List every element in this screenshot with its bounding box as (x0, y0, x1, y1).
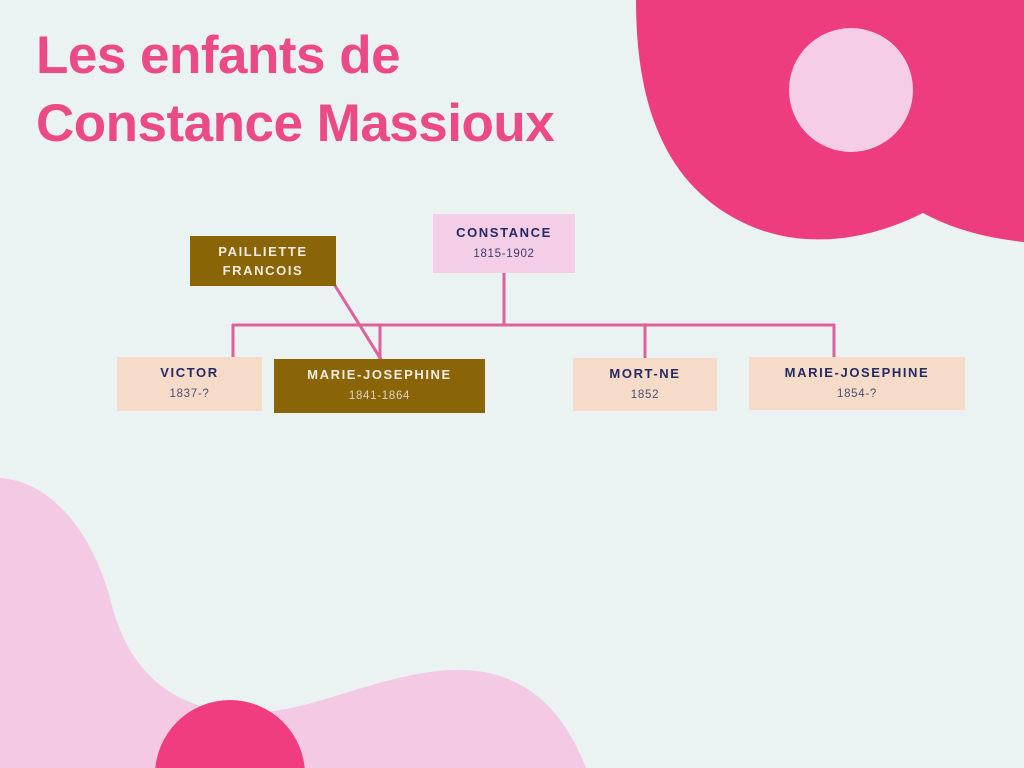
node-name: VICTOR (160, 364, 218, 383)
node-dates: 1837-? (169, 386, 209, 403)
tree-node-pailliette-francois[interactable]: PAILLIETTE FRANCOIS (190, 236, 336, 286)
node-name: PAILLIETTE FRANCOIS (190, 242, 336, 281)
node-name: MARIE-JOSEPHINE (307, 366, 452, 385)
slide-canvas: Les enfants de Constance Massioux PAILLI… (0, 0, 1024, 768)
tree-node-victor[interactable]: VICTOR 1837-? (117, 357, 262, 411)
tree-node-marie-josephine-1841[interactable]: MARIE-JOSEPHINE 1841-1864 (274, 359, 485, 413)
family-tree: PAILLIETTE FRANCOIS CONSTANCE 1815-1902 … (0, 0, 1024, 768)
tree-node-constance[interactable]: CONSTANCE 1815-1902 (433, 214, 575, 273)
node-dates: 1815-1902 (473, 246, 534, 263)
node-dates: 1852 (631, 387, 659, 404)
node-dates: 1854-? (837, 386, 877, 403)
node-dates: 1841-1864 (349, 388, 410, 405)
tree-node-mort-ne[interactable]: MORT-NE 1852 (573, 358, 717, 411)
node-name: CONSTANCE (456, 224, 552, 243)
tree-node-marie-josephine-1854[interactable]: MARIE-JOSEPHINE 1854-? (749, 357, 965, 410)
node-name: MARIE-JOSEPHINE (785, 364, 930, 383)
connector-pailliette-to-mj (334, 284, 382, 361)
node-name: MORT-NE (609, 365, 680, 384)
